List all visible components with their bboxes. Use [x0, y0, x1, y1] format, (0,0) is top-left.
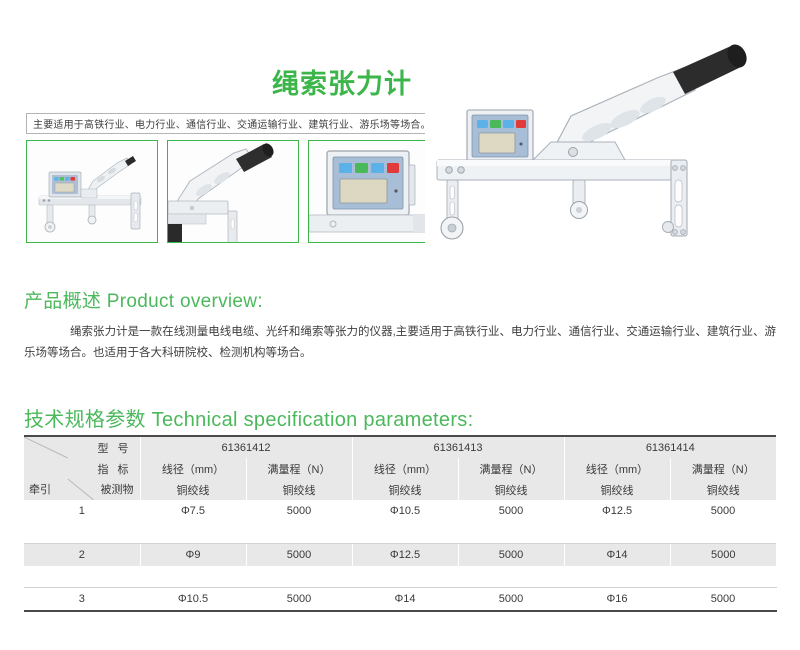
subheader-diameter-1: 线径（mm） [140, 458, 246, 479]
specs-heading: 技术规格参数 Technical specification parameter… [24, 403, 473, 432]
spec-table-wrapper: 型 号 指 标 牵引 被测物 61361412 61361413 6136141… [24, 435, 776, 612]
row-2-cell-4: 5000 [458, 544, 564, 567]
subheader-range-3: 满量程（N） [670, 458, 776, 479]
tension-meter-lever-handle-image [168, 141, 299, 243]
row-3-cell-1: Φ10.5 [140, 588, 246, 612]
subheader-range-2: 满量程（N） [458, 458, 564, 479]
row-1-cell-6: 5000 [670, 500, 776, 522]
row-1-cell-2: 5000 [246, 500, 352, 522]
row-1-cell-5: Φ12.5 [564, 500, 670, 522]
corner-header-cell: 型 号 指 标 牵引 被测物 [24, 436, 140, 500]
thumbnail-control-panel[interactable] [308, 140, 440, 243]
row-2-number: 2 [24, 544, 140, 567]
overview-body: 绳索张力计是一款在线测量电线电缆、光纤和绳索等张力的仪器,主要适用于高铁行业、电… [24, 322, 776, 364]
subheader-diameter-2: 线径（mm） [352, 458, 458, 479]
corner-index-label: 指 标 [97, 461, 131, 477]
material-cell-4: 铜绞线 [458, 479, 564, 500]
model-header-3: 61361414 [564, 436, 776, 458]
overview-heading: 产品概述 Product overview: [24, 286, 263, 313]
table-row-models: 型 号 指 标 牵引 被测物 61361412 61361413 6136141… [24, 436, 776, 458]
row-2-cell-2: 5000 [246, 544, 352, 567]
page-title: 绳索张力计 [272, 62, 412, 101]
overview-paragraph: 绳索张力计是一款在线测量电线电缆、光纤和绳索等张力的仪器,主要适用于高铁行业、电… [24, 322, 776, 364]
row-2-cell-5: Φ14 [564, 544, 670, 567]
thumbnail-gallery [26, 140, 440, 243]
model-header-1: 61361412 [140, 436, 352, 458]
overview-heading-cn: 产品概述 [24, 291, 101, 312]
subheader-range-1: 满量程（N） [246, 458, 352, 479]
material-cell-1: 铜绞线 [140, 479, 246, 500]
material-cell-2: 铜绞线 [246, 479, 352, 500]
row-3-cell-4: 5000 [458, 588, 564, 612]
corner-measured-label: 被测物 [101, 481, 134, 497]
row-2-cell-3: Φ12.5 [352, 544, 458, 567]
subheader-diameter-3: 线径（mm） [564, 458, 670, 479]
row-separator [24, 566, 776, 588]
row-1-cell-4: 5000 [458, 500, 564, 522]
row-1-number: 1 [24, 500, 140, 522]
thumbnail-full-view[interactable] [26, 140, 158, 243]
tension-meter-hero-illustration [425, 42, 795, 257]
table-row: 3 Φ10.5 5000 Φ14 5000 Φ16 5000 [24, 588, 776, 612]
table-row: 1 Φ7.5 5000 Φ10.5 5000 Φ12.5 5000 [24, 500, 776, 522]
row-2-cell-6: 5000 [670, 544, 776, 567]
row-2-cell-1: Φ9 [140, 544, 246, 567]
row-3-cell-3: Φ14 [352, 588, 458, 612]
row-1-cell-3: Φ10.5 [352, 500, 458, 522]
row-3-cell-2: 5000 [246, 588, 352, 612]
corner-traction-label: 牵引 [29, 481, 51, 497]
specs-heading-en: Technical specification parameters: [152, 409, 474, 431]
material-cell-5: 铜绞线 [564, 479, 670, 500]
row-3-cell-5: Φ16 [564, 588, 670, 612]
tension-meter-full-view-image [27, 141, 158, 243]
hero-product-image [425, 42, 795, 257]
spec-table: 型 号 指 标 牵引 被测物 61361412 61361413 6136141… [24, 435, 777, 612]
usage-text: 主要适用于高铁行业、电力行业、通信行业、交通运输行业、建筑行业、游乐场等场合。 [27, 114, 431, 133]
material-cell-3: 铜绞线 [352, 479, 458, 500]
corner-model-label: 型 号 [97, 440, 131, 456]
usage-bar: 主要适用于高铁行业、电力行业、通信行业、交通运输行业、建筑行业、游乐场等场合。 … [26, 113, 430, 134]
row-separator [24, 522, 776, 544]
material-cell-6: 铜绞线 [670, 479, 776, 500]
row-1-cell-1: Φ7.5 [140, 500, 246, 522]
model-header-2: 61361413 [352, 436, 564, 458]
tension-meter-control-panel-image [309, 141, 440, 243]
row-3-number: 3 [24, 588, 140, 612]
row-3-cell-6: 5000 [670, 588, 776, 612]
hero-section: 绳索张力计 主要适用于高铁行业、电力行业、通信行业、交通运输行业、建筑行业、游乐… [0, 0, 800, 262]
specs-heading-cn: 技术规格参数 [24, 409, 146, 431]
overview-heading-en: Product overview: [107, 291, 263, 312]
table-row: 2 Φ9 5000 Φ12.5 5000 Φ14 5000 [24, 544, 776, 567]
thumbnail-lever-handle[interactable] [167, 140, 299, 243]
